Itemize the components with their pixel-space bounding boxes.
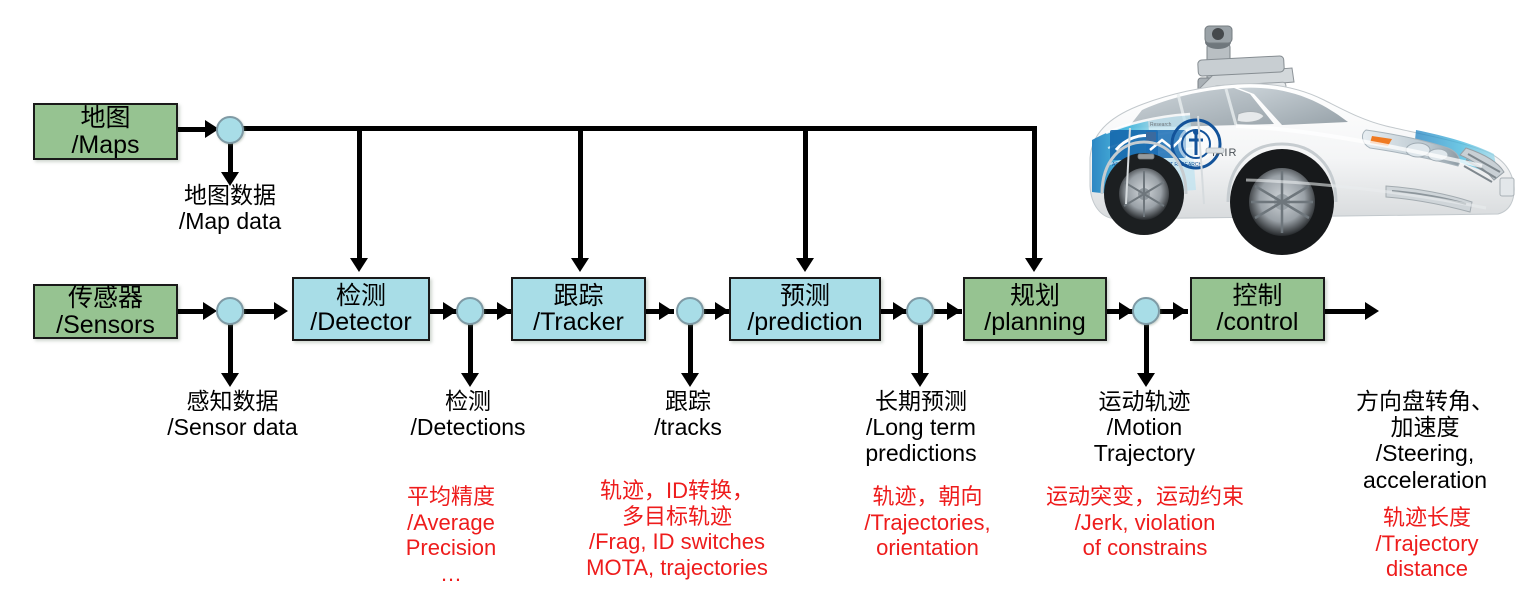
edge-predictions-drop — [918, 321, 923, 376]
label-long-term-predictions: 长期预测 /Long term predictions — [848, 388, 994, 467]
metric-control: 轨迹长度 /Trajectory distance — [1337, 505, 1517, 582]
node-detector-en: /Detector — [310, 309, 411, 336]
metric-tracker: 轨迹，ID转换， 多目标轨迹 /Frag, ID switches MOTA, … — [548, 478, 806, 580]
arrowhead-j4-to-planning — [947, 302, 961, 320]
rear-wheel — [1104, 153, 1184, 235]
arrowhead-map-to-tracker — [571, 258, 589, 272]
arrowhead-map-to-prediction — [796, 258, 814, 272]
node-control-en: /control — [1217, 309, 1299, 336]
label-detections: 检测 /Detections — [398, 388, 538, 440]
edge-map-to-tracker — [578, 126, 583, 260]
node-maps[interactable]: 地图 /Maps — [33, 103, 178, 160]
node-maps-en: /Maps — [71, 132, 139, 159]
metric-detector: 平均精度 /Average Precision … — [390, 484, 512, 586]
diagram-canvas: 地图 /Maps 地图数据 /Map data 传感器 /Sensors 检测 … — [0, 0, 1524, 600]
junction-tracks[interactable] — [676, 297, 704, 325]
junction-long-term-predictions[interactable] — [906, 297, 934, 325]
node-prediction-en: /prediction — [747, 309, 862, 336]
edge-sensor-data-drop — [228, 321, 233, 376]
node-prediction-cn: 预测 — [780, 283, 830, 310]
node-planning-en: /planning — [984, 309, 1085, 336]
node-sensors-cn: 传感器 — [68, 285, 143, 312]
label-sensor-data: 感知数据 /Sensor data — [155, 388, 310, 440]
junction-motion-trajectory[interactable] — [1132, 297, 1160, 325]
edge-detections-drop — [468, 321, 473, 376]
node-maps-cn: 地图 — [80, 105, 130, 132]
node-control-cn: 控制 — [1232, 283, 1282, 310]
node-planning[interactable]: 规划 /planning — [963, 277, 1107, 341]
label-steering-acceleration: 方向盘转角、 加速度 /Steering, acceleration — [1330, 388, 1520, 493]
arrowhead-prediction-to-j4 — [893, 302, 907, 320]
node-planning-cn: 规划 — [1010, 283, 1060, 310]
front-wheel — [1230, 149, 1334, 255]
arrowhead-motion-trajectory — [1137, 373, 1155, 387]
junction-map-data[interactable] — [216, 116, 244, 144]
label-motion-trajectory: 运动轨迹 /Motion Trajectory — [1077, 388, 1212, 467]
arrowhead-map-to-detector — [350, 258, 368, 272]
arrowhead-control-output — [1365, 302, 1379, 320]
arrowhead-planning-to-j5 — [1119, 302, 1133, 320]
label-tracks: 跟踪 /tracks — [625, 388, 751, 440]
arrowhead-sensors-to-j1 — [203, 302, 217, 320]
junction-sensor-data[interactable] — [216, 297, 244, 325]
edge-tracks-drop — [688, 321, 693, 376]
metric-planning: 运动突变，运动约束 /Jerk, violation of constrains — [1025, 484, 1265, 561]
arrowhead-detections — [461, 373, 479, 387]
arrowhead-j2-to-tracker — [497, 302, 511, 320]
arrowhead-sensor-data — [221, 373, 239, 387]
arrowhead-j5-to-control — [1173, 302, 1187, 320]
edge-map-to-planning — [1032, 126, 1037, 260]
arrowhead-j1-to-detector — [274, 302, 288, 320]
arrowhead-j3-to-prediction — [715, 302, 729, 320]
arrowhead-tracks — [681, 373, 699, 387]
arrowhead-detector-to-j2 — [443, 302, 457, 320]
edge-motion-trajectory-drop — [1144, 321, 1149, 376]
edge-map-data-drop — [228, 140, 233, 176]
arrowhead-map-to-planning — [1025, 258, 1043, 272]
node-prediction[interactable]: 预测 /prediction — [729, 277, 881, 341]
autonomous-vehicle-photo: ADVANCED INTELLIGENT RESEARCH IAIR Resea… — [1086, 8, 1524, 260]
edge-map-to-prediction — [803, 126, 808, 260]
metric-prediction: 轨迹，朝向 /Trajectories, orientation — [845, 484, 1010, 561]
node-sensors[interactable]: 传感器 /Sensors — [33, 284, 178, 339]
svg-text:Research: Research — [1150, 122, 1172, 128]
label-map-data: 地图数据 /Map data — [155, 182, 305, 234]
node-detector[interactable]: 检测 /Detector — [292, 277, 430, 341]
node-control[interactable]: 控制 /control — [1190, 277, 1325, 341]
node-detector-cn: 检测 — [336, 283, 386, 310]
arrowhead-predictions — [911, 373, 929, 387]
edge-map-to-detector — [357, 126, 362, 260]
junction-detections[interactable] — [456, 297, 484, 325]
node-sensors-en: /Sensors — [56, 312, 155, 339]
arrowhead-tracker-to-j3 — [659, 302, 673, 320]
node-tracker-en: /Tracker — [533, 309, 624, 336]
node-tracker[interactable]: 跟踪 /Tracker — [511, 277, 646, 341]
node-tracker-cn: 跟踪 — [553, 283, 603, 310]
